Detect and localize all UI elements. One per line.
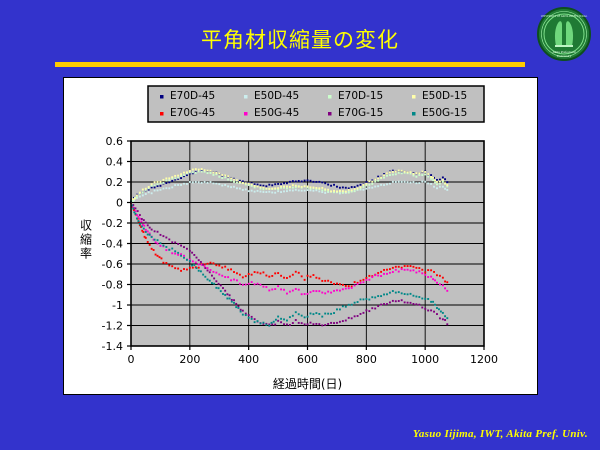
legend-label-e50d-45: E50D-45 [254, 90, 299, 102]
chart-card: E70D-45E50D-45E70D-15E50D-15E70G-45E50G-… [63, 77, 538, 395]
x-tick-label: 0 [128, 353, 135, 366]
university-seal-logo: Akita Prefectural University UNIVERSITY … [536, 6, 592, 62]
legend-marker-e70d-15 [328, 95, 332, 99]
svg-text:University: University [557, 54, 572, 58]
legend-label-e70g-45: E70G-45 [170, 107, 215, 119]
legend-marker-e70g-15 [328, 112, 332, 116]
y-tick-label: -1 [112, 299, 123, 312]
legend-marker-e50g-45 [244, 112, 248, 116]
y-tick-label: 0.2 [106, 176, 124, 189]
y-tick-label: -0.6 [102, 258, 123, 271]
y-tick-label: -1.4 [102, 340, 123, 353]
svg-text:縮: 縮 [80, 232, 92, 247]
y-tick-label: -0.8 [102, 279, 123, 292]
author-credit: Yasuo Iijima, IWT, Akita Pref. Univ. [0, 428, 588, 440]
legend-marker-e50g-15 [412, 112, 416, 116]
y-tick-label: 0.6 [106, 135, 124, 148]
page-title: 平角材収縮量の変化 [0, 24, 600, 54]
svg-text:UNIVERSITY OF AKITA PREFECTURA: UNIVERSITY OF AKITA PREFECTURAL [541, 15, 588, 18]
x-tick-label: 1000 [411, 353, 439, 366]
legend-label-e50g-15: E50G-15 [422, 107, 467, 119]
y-tick-label: 0 [116, 197, 123, 210]
shrinkage-line-chart: E70D-45E50D-45E70D-15E50D-15E70G-45E50G-… [64, 78, 537, 394]
legend-marker-e70d-45 [160, 95, 164, 99]
y-tick-label: -0.2 [102, 217, 123, 230]
x-axis-title: 経過時間(日) [273, 377, 342, 391]
x-tick-label: 200 [179, 353, 200, 366]
y-tick-label: -0.4 [102, 238, 123, 251]
y-tick-label: 0.4 [106, 156, 124, 169]
y-axis-title: 収縮率 [80, 219, 92, 261]
title-divider [55, 62, 525, 67]
x-tick-label: 1200 [470, 353, 498, 366]
legend-label-e70g-15: E70G-15 [338, 107, 383, 119]
legend-marker-e50d-45 [244, 95, 248, 99]
y-tick-label: -1.2 [102, 320, 123, 333]
legend-label-e50d-15: E50D-15 [422, 90, 467, 102]
legend-label-e50g-45: E50G-45 [254, 107, 299, 119]
legend-label-e70d-15: E70D-15 [338, 90, 383, 102]
svg-text:率: 率 [80, 246, 92, 261]
legend-label-e70d-45: E70D-45 [170, 90, 215, 102]
x-tick-label: 600 [297, 353, 318, 366]
x-tick-label: 400 [238, 353, 259, 366]
legend-marker-e50d-15 [412, 95, 416, 99]
x-tick-label: 800 [356, 353, 377, 366]
legend-marker-e70g-45 [160, 112, 164, 116]
svg-text:収: 収 [80, 219, 92, 233]
slide: 平角材収縮量の変化 Akita Prefectural University U… [0, 0, 600, 450]
